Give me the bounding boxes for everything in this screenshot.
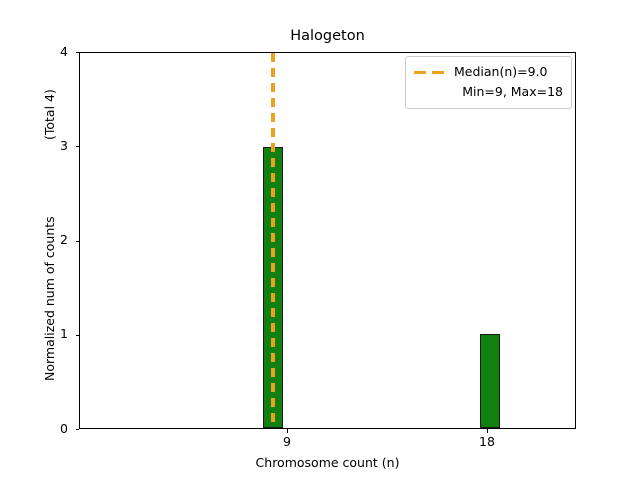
x-axis-label: Chromosome count (n): [79, 455, 576, 470]
ytick-mark-3: [76, 146, 80, 147]
bar-18[interactable]: [480, 334, 500, 428]
dashed-line-icon: [413, 62, 447, 82]
ytick-mark-4: [76, 52, 80, 53]
ytick-mark-2: [76, 241, 80, 242]
xtick-label-9: 9: [257, 436, 317, 449]
legend-label-median: Median(n)=9.0: [454, 66, 548, 79]
ytick-mark-0: [76, 429, 80, 430]
xtick-label-18: 18: [457, 436, 517, 449]
ytick-label-0: 0: [28, 423, 68, 436]
legend-item-range: Min=9, Max=18: [413, 82, 564, 102]
legend-item-median: Median(n)=9.0: [413, 62, 564, 82]
ytick-label-4: 4: [28, 46, 68, 59]
ytick-label-3: 3: [28, 140, 68, 153]
chart-title: Halogeton: [79, 28, 576, 44]
median-line: [271, 53, 274, 428]
xtick-mark-18: [487, 429, 488, 433]
y-axis-label: Normalized num of counts: [44, 216, 57, 381]
ytick-mark-1: [76, 335, 80, 336]
legend: Median(n)=9.0 Min=9, Max=18: [405, 56, 572, 109]
xtick-mark-9: [287, 429, 288, 433]
chart-figure: Halogeton 4 3 2 1 0 9 18 Chromosome coun…: [0, 0, 640, 480]
legend-label-range: Min=9, Max=18: [462, 86, 563, 99]
y-axis-total-label: (Total 4): [44, 89, 57, 140]
